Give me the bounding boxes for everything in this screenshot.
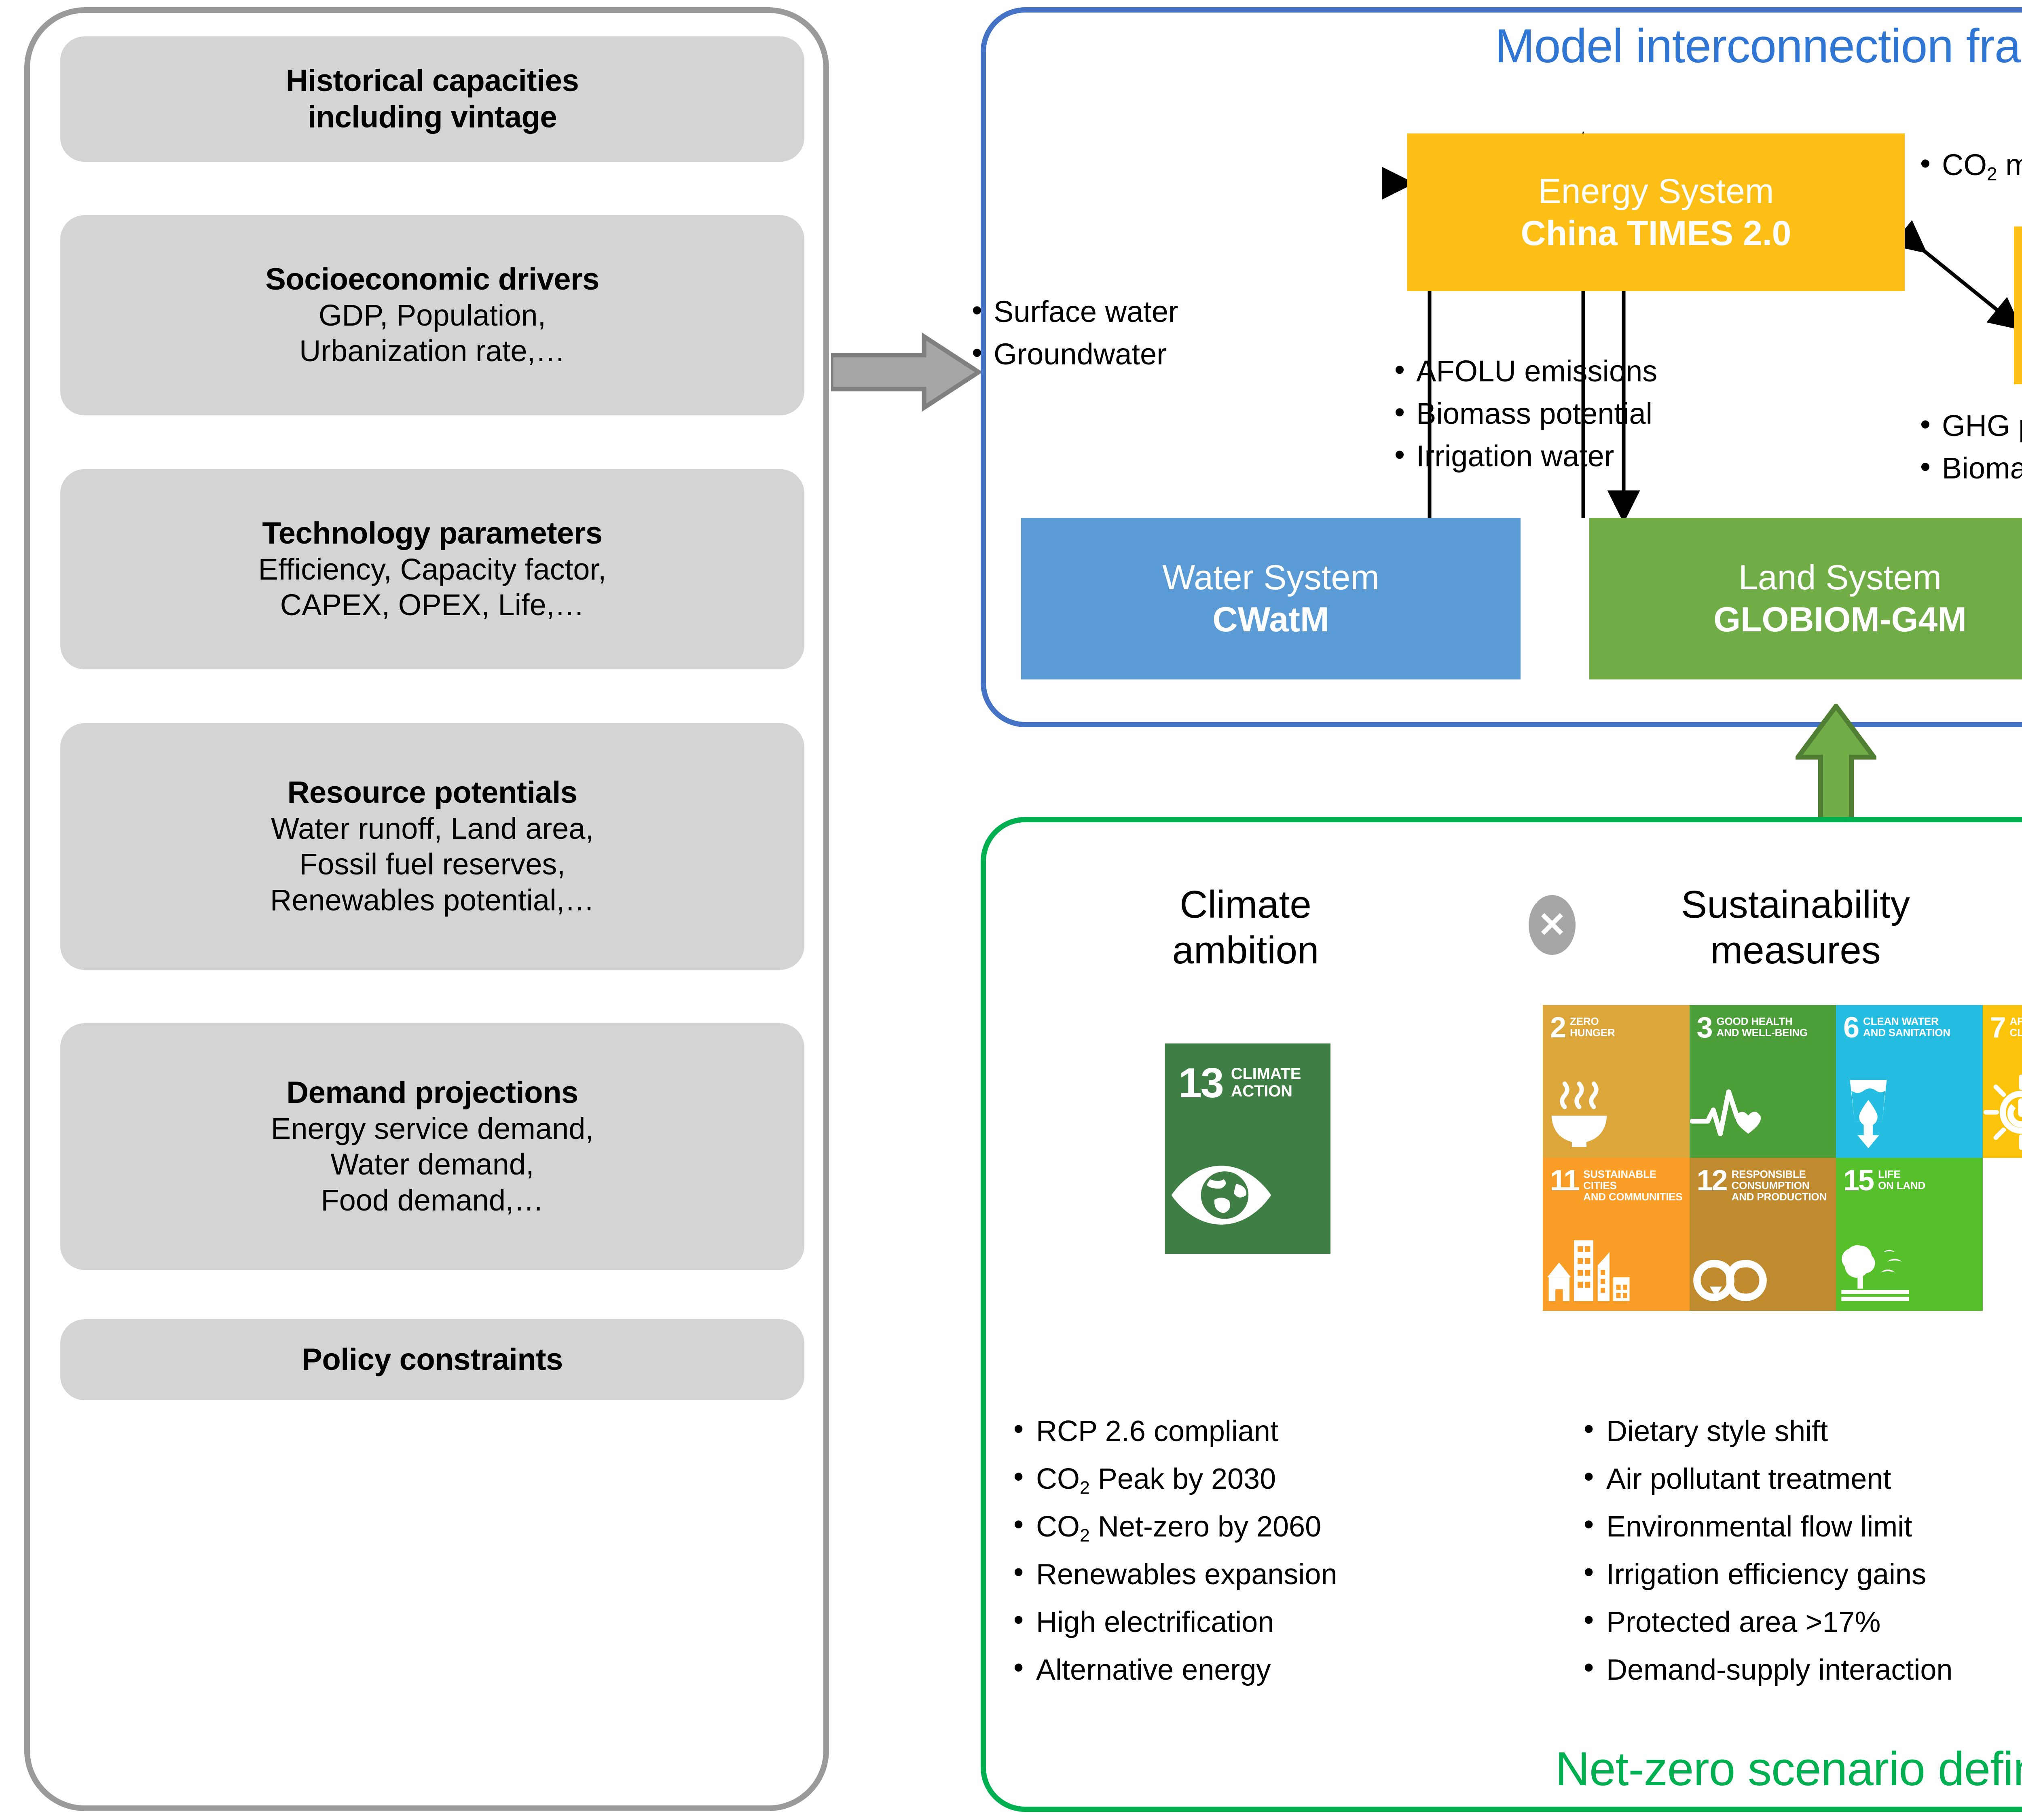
flow-item: Biomass potential: [1391, 392, 1657, 435]
flow-list-water-inputs: Surface water Groundwater: [969, 290, 1178, 375]
sdg-tile-11-sustainable-cities[interactable]: 11 SUSTAINABLE CITIES AND COMMUNITIES: [1543, 1158, 1690, 1311]
input-card-title: Resource potentials: [288, 775, 577, 811]
scenario-bullet: High electrification: [1007, 1598, 1337, 1646]
sdg-tile-7-affordable-clean-energy[interactable]: 7 AFFORDABLE AND CLEAN ENERGY: [1983, 1005, 2022, 1158]
sdg-tile-12-responsible-consumption[interactable]: 12 RESPONSIBLE CONSUMPTION AND PRODUCTIO…: [1690, 1158, 1836, 1311]
sdg-label: RESPONSIBLE CONSUMPTION AND PRODUCTION: [1732, 1168, 1827, 1202]
scenario-heading-climate-ambition: Climate ambition: [1120, 882, 1371, 973]
sdg-label: LIFE ON LAND: [1878, 1168, 1925, 1191]
sdg-tile-15-life-on-land[interactable]: 15 LIFE ON LAND: [1836, 1158, 1983, 1311]
model-box-title: Water System: [1162, 559, 1379, 596]
scenario-bullet: CO2 Peak by 2030: [1007, 1455, 1337, 1503]
scenario-to-framework-arrow-icon: [1796, 704, 1876, 833]
flow-item: GHG price: [1917, 404, 2022, 447]
model-box-water-system[interactable]: Water System CWatM: [1021, 518, 1521, 679]
scenario-bullet: Demand-supply interaction: [1577, 1646, 1952, 1694]
input-card-technology-parameters: Technology parameters Efficiency, Capaci…: [60, 469, 804, 669]
input-card-historical-capacities: Historical capacities including vintage: [60, 36, 804, 162]
multiply-icon: ✕: [1529, 895, 1576, 955]
inputs-to-framework-arrow-icon: [831, 332, 981, 413]
scenario-bullets-sustainability-measures: Dietary style shift Air pollutant treatm…: [1577, 1407, 1952, 1694]
model-box-title: Land System: [1739, 559, 1942, 596]
flow-item: CO2 mitigation pathway: [1917, 144, 2022, 187]
sdg-number: 15: [1843, 1168, 1873, 1194]
model-box-name: GLOBIOM-G4M: [1713, 601, 1967, 638]
sun-power-icon: [1983, 1074, 2022, 1151]
flow-item: Biomass price: [1917, 447, 2022, 489]
sdg-label: CLEAN WATER AND SANITATION: [1863, 1016, 1950, 1038]
input-card-policy-constraints: Policy constraints: [60, 1319, 804, 1400]
sdg-tile-header: 12 RESPONSIBLE CONSUMPTION AND PRODUCTIO…: [1690, 1158, 1836, 1202]
sdg-label: CLIMATE ACTION: [1231, 1065, 1301, 1100]
sdg-number: 7: [1990, 1016, 2005, 1041]
model-box-land-system[interactable]: Land System GLOBIOM-G4M: [1589, 518, 2022, 679]
flow-list-land-inputs: AFOLU emissions Biomass potential Irriga…: [1391, 350, 1657, 477]
input-card-title: Historical capacities including vintage: [286, 63, 579, 135]
input-card-detail: Efficiency, Capacity factor, CAPEX, OPEX…: [258, 552, 607, 624]
sdg-number: 12: [1697, 1168, 1727, 1194]
model-box-energy-system[interactable]: Energy System China TIMES 2.0: [1407, 133, 1905, 291]
sdg-number: 13: [1178, 1065, 1223, 1101]
city-icon: [1543, 1235, 1690, 1304]
input-card-socioeconomic-drivers: Socioeconomic drivers GDP, Population, U…: [60, 215, 804, 415]
scenario-bullet: RCP 2.6 compliant: [1007, 1407, 1337, 1455]
scenario-bullet: Protected area >17%: [1577, 1598, 1952, 1646]
model-box-provincial-downscaling[interactable]: Provincial Downscaling China-TIMES-30PE: [2014, 226, 2022, 384]
scenario-bullet: Air pollutant treatment: [1577, 1455, 1952, 1503]
sdg-tile-header: 7 AFFORDABLE AND CLEAN ENERGY: [1983, 1005, 2022, 1041]
sdg-number: 6: [1843, 1016, 1858, 1041]
sdg-number: 3: [1697, 1016, 1712, 1041]
scenario-title: Net-zero scenario definition: [981, 1742, 2022, 1797]
input-card-resource-potentials: Resource potentials Water runoff, Land a…: [60, 723, 804, 970]
input-card-title: Demand projections: [286, 1075, 578, 1111]
scenario-bullet: CO2 Net-zero by 2060: [1007, 1503, 1337, 1551]
sdg-label: SUSTAINABLE CITIES AND COMMUNITIES: [1583, 1168, 1686, 1202]
model-inputs-panel: Historical capacities including vintage …: [24, 7, 829, 1811]
scenario-bullet: Dietary style shift: [1577, 1407, 1952, 1455]
model-box-name: CWatM: [1212, 601, 1329, 638]
sdg-tile-header: 3 GOOD HEALTH AND WELL-BEING: [1690, 1005, 1836, 1041]
input-card-title: Technology parameters: [262, 515, 602, 552]
input-card-title: Policy constraints: [302, 1342, 563, 1378]
sdg-tile-header: 13 CLIMATE ACTION: [1165, 1043, 1330, 1101]
sdg-number: 11: [1550, 1168, 1578, 1194]
sdg-tile-header: 15 LIFE ON LAND: [1836, 1158, 1983, 1194]
scenario-bullet: Irrigation efficiency gains: [1577, 1551, 1952, 1598]
model-box-name: China TIMES 2.0: [1521, 215, 1791, 252]
infinity-icon: [1690, 1254, 1836, 1307]
input-card-title: Socioeconomic drivers: [265, 261, 599, 298]
scenario-bullets-climate-ambition: RCP 2.6 compliant CO2 Peak by 2030 CO2 N…: [1007, 1407, 1337, 1694]
sdg-label: AFFORDABLE AND CLEAN ENERGY: [2010, 1016, 2022, 1038]
scenario-bullet: Alternative energy: [1007, 1646, 1337, 1694]
sdg-tile-13-climate-action[interactable]: 13 CLIMATE ACTION: [1165, 1043, 1330, 1254]
sdg-number: 2: [1550, 1016, 1565, 1041]
sdg-tile-6-clean-water[interactable]: 6 CLEAN WATER AND SANITATION: [1836, 1005, 1983, 1158]
tree-birds-icon: [1836, 1235, 1983, 1304]
flow-item: Irrigation water: [1391, 435, 1657, 477]
flow-item: Groundwater: [969, 333, 1178, 375]
sdg-tile-2-zero-hunger[interactable]: 2 ZERO HUNGER: [1543, 1005, 1690, 1158]
flow-item: Surface water: [969, 290, 1178, 333]
flow-list-prices: GHG price Biomass price: [1917, 404, 2022, 489]
scenario-bullet: Environmental flow limit: [1577, 1503, 1952, 1551]
input-card-detail: GDP, Population, Urbanization rate,…: [299, 298, 565, 370]
sdg-label: ZERO HUNGER: [1570, 1016, 1615, 1038]
sdg-tile-grid: 2 ZERO HUNGER 3 GOOD HEALTH AND WELL-BEI…: [1543, 1005, 2022, 1311]
water-glass-icon: [1836, 1074, 1983, 1151]
model-box-title: Energy System: [1538, 173, 1774, 210]
heartbeat-icon: [1690, 1082, 1836, 1151]
scenario-bullet: Renewables expansion: [1007, 1551, 1337, 1598]
scenario-heading-sustainability-measures: Sustainability measures: [1597, 882, 1994, 973]
input-card-detail: Energy service demand, Water demand, Foo…: [271, 1111, 594, 1219]
bowl-steam-icon: [1543, 1078, 1690, 1151]
input-card-detail: Water runoff, Land area, Fossil fuel res…: [270, 811, 594, 918]
sdg-tile-header: 6 CLEAN WATER AND SANITATION: [1836, 1005, 1983, 1041]
sdg-tile-header: 2 ZERO HUNGER: [1543, 1005, 1690, 1041]
flow-item: AFOLU emissions: [1391, 350, 1657, 392]
sdg-label: GOOD HEALTH AND WELL-BEING: [1717, 1016, 1808, 1038]
eye-globe-icon: [1165, 1161, 1330, 1230]
input-card-demand-projections: Demand projections Energy service demand…: [60, 1023, 804, 1270]
flow-list-co2-mitigation: CO2 mitigation pathway: [1917, 144, 2022, 187]
diagram-canvas: Historical capacities including vintage …: [0, 0, 2022, 1820]
sdg-tile-header: 11 SUSTAINABLE CITIES AND COMMUNITIES: [1543, 1158, 1690, 1202]
sdg-tile-3-good-health[interactable]: 3 GOOD HEALTH AND WELL-BEING: [1690, 1005, 1836, 1158]
